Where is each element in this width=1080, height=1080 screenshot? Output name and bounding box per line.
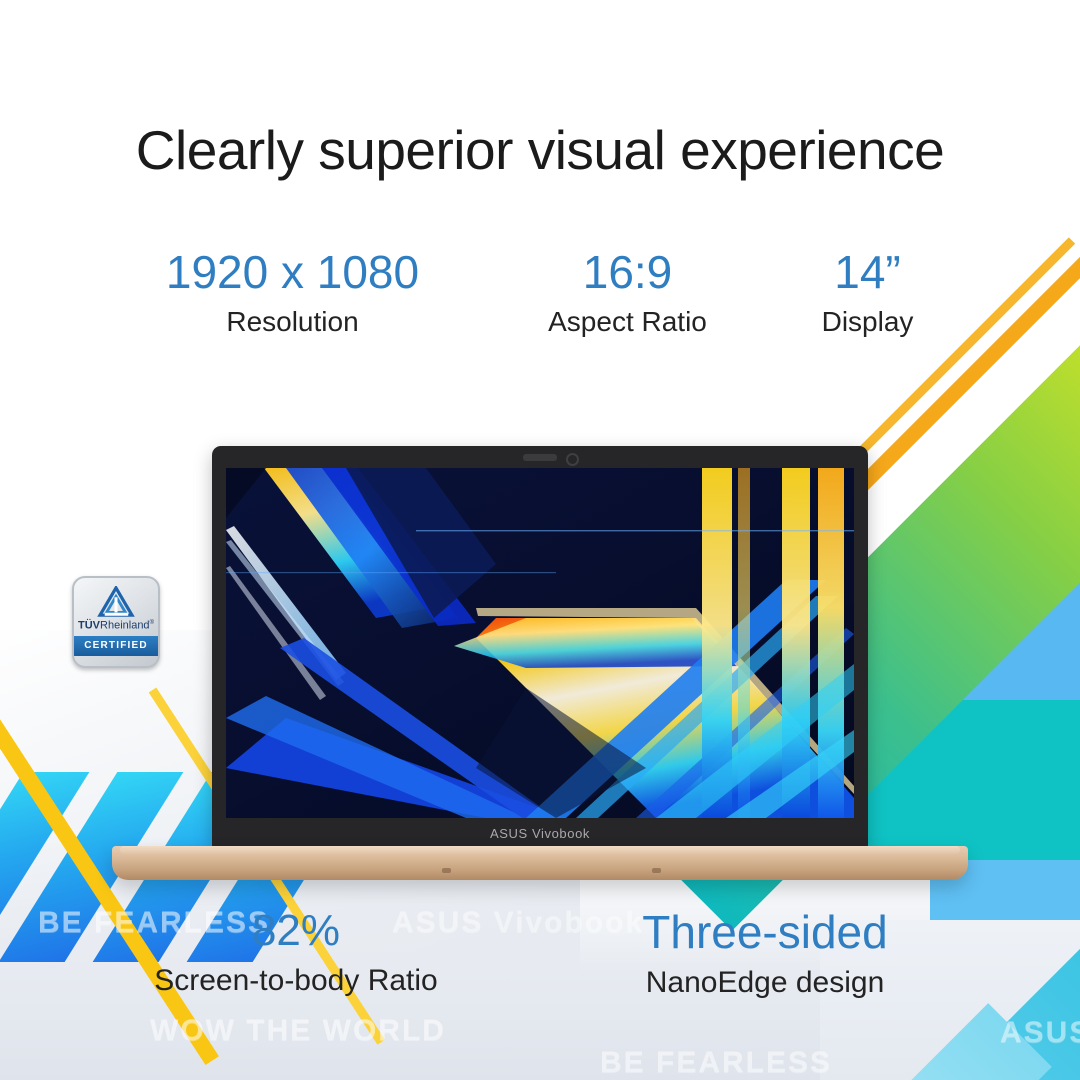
- watermark-text: WOW THE WORLD: [150, 1014, 446, 1048]
- tuv-name-bold: TÜV: [78, 620, 100, 632]
- spec-value: 16:9: [480, 248, 775, 296]
- spec-label: Screen-to-body Ratio: [100, 964, 492, 998]
- tuv-name-light: Rheinland: [100, 620, 150, 632]
- spec-aspect-ratio: 16:9 Aspect Ratio: [480, 248, 775, 338]
- watermark-text: BE FEARLESS: [600, 1046, 832, 1080]
- spec-value: 82%: [100, 908, 492, 954]
- spec-resolution: 1920 x 1080 Resolution: [110, 248, 475, 338]
- tuv-brand-text: TÜVRheinland®: [78, 620, 154, 632]
- spec-screen-to-body-ratio: 82% Screen-to-body Ratio: [100, 908, 492, 998]
- promo-graphic: BE FEARLESS ASUS Vivobook WOW THE WORLD …: [0, 0, 1080, 1080]
- spec-label: NanoEdge design: [570, 966, 960, 1000]
- tuv-rheinland-certified-badge: TÜVRheinland® CERTIFIED: [72, 576, 160, 668]
- spec-label: Aspect Ratio: [480, 306, 775, 338]
- spec-value: 14”: [760, 248, 975, 296]
- page-title: Clearly superior visual experience: [0, 118, 1080, 182]
- spec-nanoedge-design: Three-sided NanoEdge design: [570, 908, 960, 1000]
- tuv-certified-band: CERTIFIED: [74, 636, 158, 656]
- spec-display-size: 14” Display: [760, 248, 975, 338]
- spec-value: Three-sided: [570, 908, 960, 956]
- spec-value: 1920 x 1080: [110, 248, 475, 296]
- spec-label: Resolution: [110, 306, 475, 338]
- watermark-text: ASUS: [1000, 1016, 1080, 1050]
- tuv-registered-mark: ®: [150, 620, 154, 626]
- tuv-triangle-logo-icon: [97, 586, 135, 618]
- spec-label: Display: [760, 306, 975, 338]
